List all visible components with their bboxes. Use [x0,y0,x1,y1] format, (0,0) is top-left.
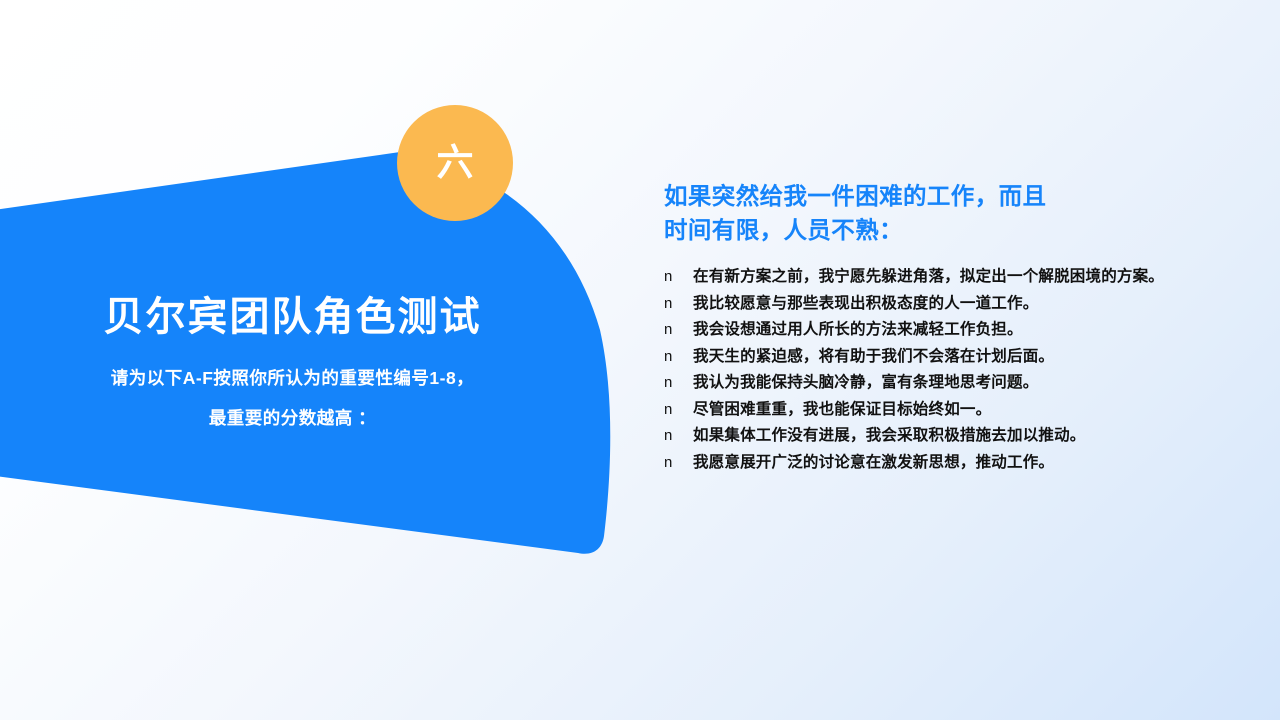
list-item-text: 我天生的紧迫感，将有助于我们不会落在计划后面。 [693,344,1224,370]
bullet-square-icon: n [664,344,693,370]
list-item[interactable]: n 我会设想通过用人所长的方法来减轻工作负担。 [664,317,1224,343]
list-item[interactable]: n 尽管困难重重，我也能保证目标始终如一。 [664,397,1224,423]
question-heading-line-1: 如果突然给我一件困难的工作，而且 [664,179,1224,213]
list-item[interactable]: n 我认为我能保持头脑冷静，富有条理地思考问题。 [664,370,1224,396]
bullet-square-icon: n [664,291,693,317]
list-item[interactable]: n 我天生的紧迫感，将有助于我们不会落在计划后面。 [664,344,1224,370]
list-item-text: 我认为我能保持头脑冷静，富有条理地思考问题。 [693,370,1224,396]
bullet-square-icon: n [664,423,693,449]
list-item[interactable]: n 如果集体工作没有进展，我会采取积极措施去加以推动。 [664,423,1224,449]
bullet-square-icon: n [664,370,693,396]
question-column: 如果突然给我一件困难的工作，而且 时间有限，人员不熟： n 在有新方案之前，我宁… [664,179,1224,476]
section-number-label: 六 [437,144,474,181]
statement-list: n 在有新方案之前，我宁愿先躲进角落，拟定出一个解脱困境的方案。 n 我比较愿意… [664,264,1224,475]
bullet-square-icon: n [664,317,693,343]
list-item-text: 如果集体工作没有进展，我会采取积极措施去加以推动。 [693,423,1224,449]
list-item-text: 我会设想通过用人所长的方法来减轻工作负担。 [693,317,1224,343]
list-item[interactable]: n 我愿意展开广泛的讨论意在激发新思想，推动工作。 [664,450,1224,476]
bullet-square-icon: n [664,450,693,476]
list-item-text: 我比较愿意与那些表现出积极态度的人一道工作。 [693,291,1224,317]
section-number-badge: 六 [397,105,513,221]
slide-canvas: 六 贝尔宾团队角色测试 请为以下A-F按照你所认为的重要性编号1-8， 最重要的… [0,0,1280,720]
list-item-text: 在有新方案之前，我宁愿先躲进角落，拟定出一个解脱困境的方案。 [693,264,1224,290]
bullet-square-icon: n [664,264,693,290]
list-item-text: 我愿意展开广泛的讨论意在激发新思想，推动工作。 [693,450,1224,476]
question-heading: 如果突然给我一件困难的工作，而且 时间有限，人员不熟： [664,179,1224,247]
list-item[interactable]: n 我比较愿意与那些表现出积极态度的人一道工作。 [664,291,1224,317]
list-item-text: 尽管困难重重，我也能保证目标始终如一。 [693,397,1224,423]
list-item[interactable]: n 在有新方案之前，我宁愿先躲进角落，拟定出一个解脱困境的方案。 [664,264,1224,290]
question-heading-line-2: 时间有限，人员不熟： [664,213,1224,247]
bullet-square-icon: n [664,397,693,423]
